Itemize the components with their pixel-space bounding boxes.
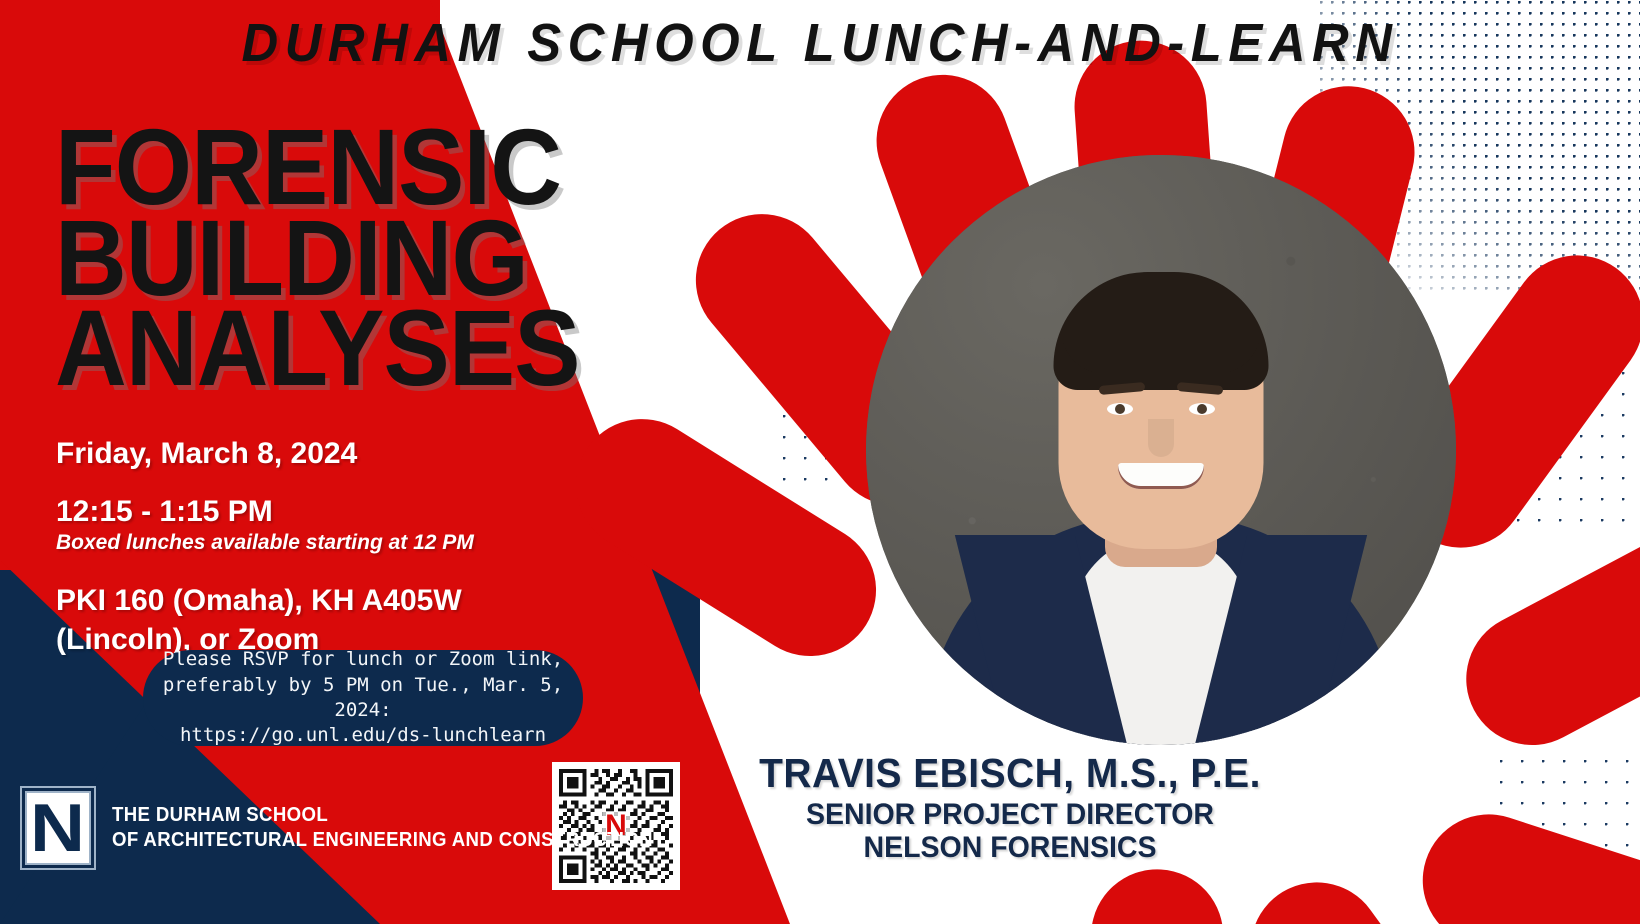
rsvp-line-2: preferably by 5 PM on Tue., Mar. 5, 2024… — [157, 673, 569, 724]
nebraska-n-glyph: N — [30, 794, 85, 862]
nebraska-n-inner: N — [25, 791, 91, 865]
headline-line-3: ANALYSES — [55, 303, 580, 394]
flyer-canvas: DURHAM SCHOOL LUNCH-AND-LEARN FORENSIC B… — [0, 0, 1640, 924]
portrait-nose — [1148, 419, 1174, 457]
event-lunch-note: Boxed lunches available starting at 12 P… — [56, 531, 586, 555]
rsvp-url[interactable]: https://go.unl.edu/ds-lunchlearn — [157, 723, 569, 748]
portrait-eye-left — [1107, 403, 1133, 415]
rsvp-callout[interactable]: Please RSVP for lunch or Zoom link, pref… — [143, 650, 583, 746]
event-time: 12:15 - 1:15 PM — [56, 495, 586, 529]
nebraska-n-icon: N — [20, 786, 96, 870]
speaker-organization: NELSON FORENSICS — [706, 831, 1314, 865]
portrait-eye-right — [1189, 403, 1215, 415]
speaker-portrait — [866, 155, 1456, 745]
petal-10 — [1083, 861, 1257, 924]
event-details: Friday, March 8, 2024 12:15 - 1:15 PM Bo… — [56, 435, 586, 659]
durham-school-logo-line-2: OF ARCHITECTURAL ENGINEERING AND CONSTRU… — [112, 828, 653, 853]
durham-school-logo-text: THE DURHAM SCHOOL OF ARCHITECTURAL ENGIN… — [112, 803, 653, 853]
rsvp-line-1: Please RSVP for lunch or Zoom link, — [157, 647, 569, 672]
headline: FORENSIC BUILDING ANALYSES — [55, 122, 580, 394]
durham-school-logo-line-1: THE DURHAM SCHOOL — [112, 803, 653, 828]
portrait-mouth — [1118, 463, 1204, 489]
petal-8 — [1406, 797, 1640, 924]
speaker-name: TRAVIS EBISCH, M.S., P.E. — [706, 752, 1314, 795]
page-title: DURHAM SCHOOL LUNCH-AND-LEARN — [49, 12, 1591, 74]
speaker-credit: TRAVIS EBISCH, M.S., P.E. SENIOR PROJECT… — [706, 752, 1314, 865]
event-location-line-1: PKI 160 (Omaha), KH A405W — [56, 584, 462, 617]
speaker-title: SENIOR PROJECT DIRECTOR — [706, 798, 1314, 832]
durham-school-logo: N THE DURHAM SCHOOL OF ARCHITECTURAL ENG… — [20, 786, 694, 870]
event-date: Friday, March 8, 2024 — [56, 435, 586, 473]
